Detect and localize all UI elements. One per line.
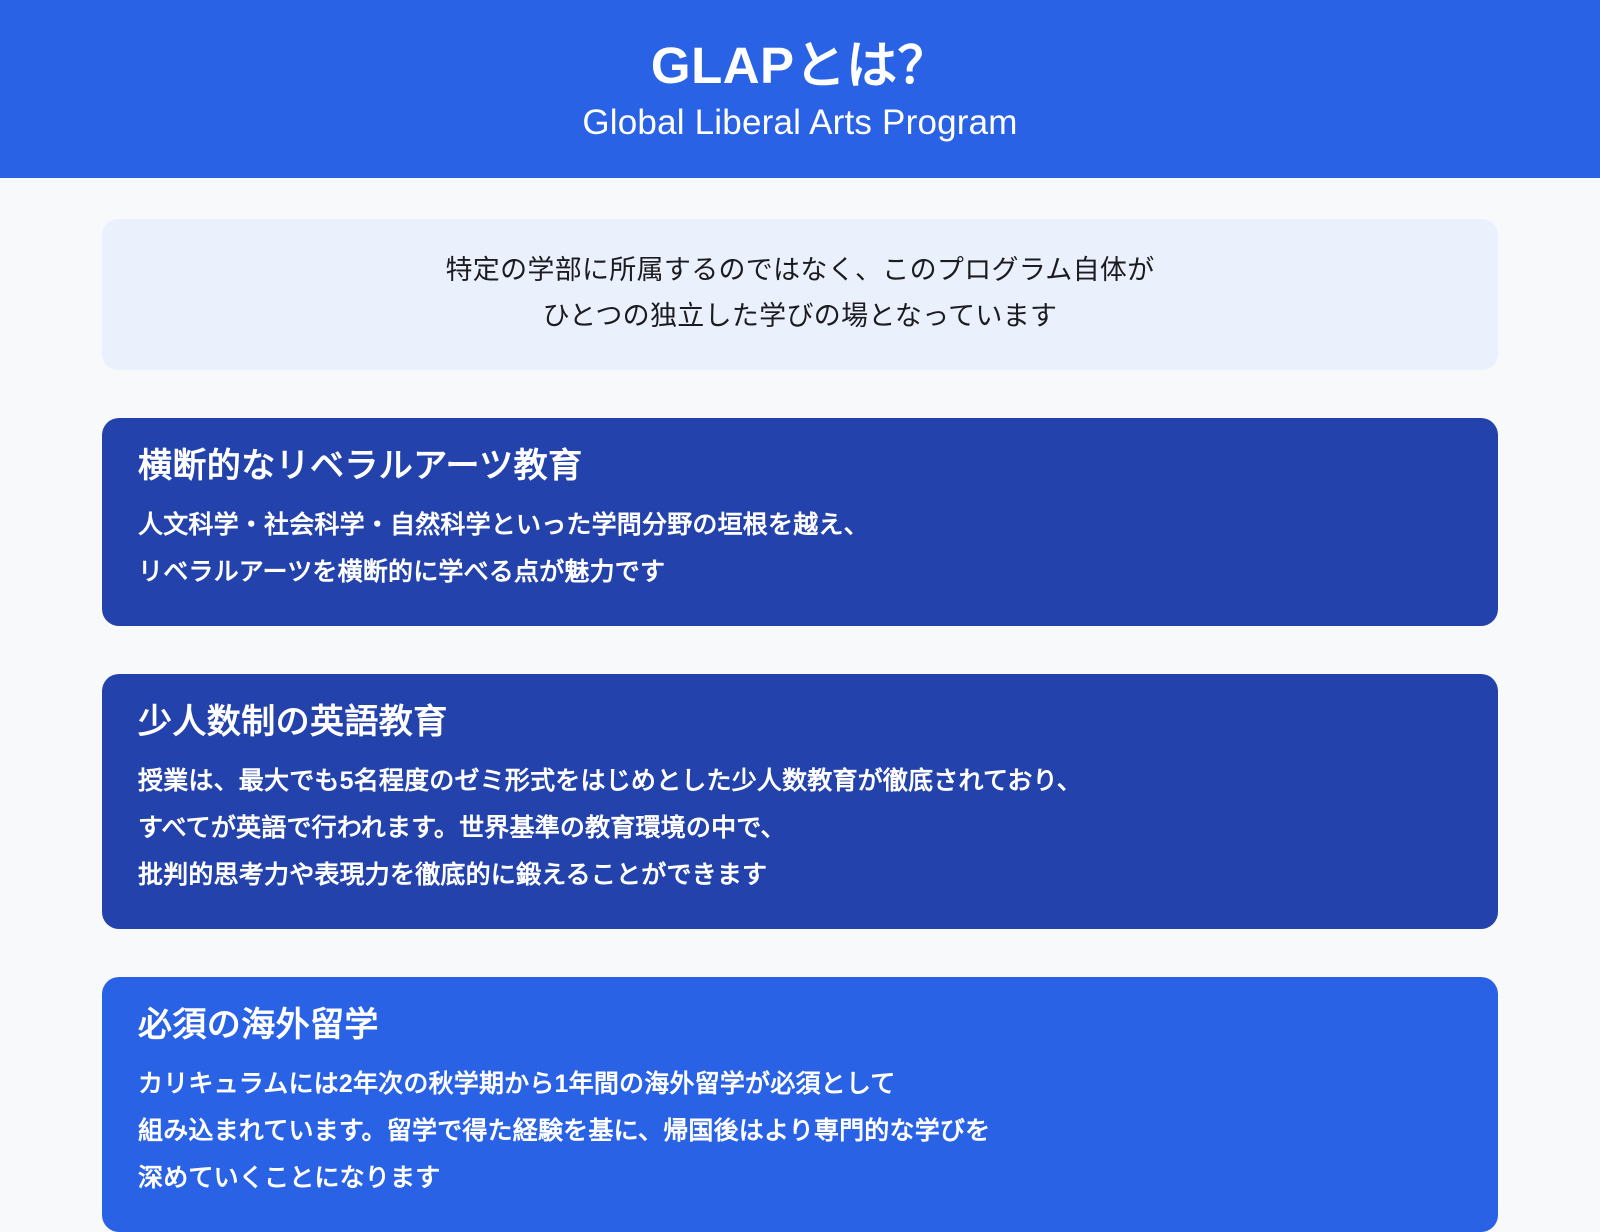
feature-card-line: 組み込まれています。留学で得た経験を基に、帰国後はより専門的な学びを	[138, 1108, 1462, 1155]
feature-card-body: 授業は、最大でも5名程度のゼミ形式をはじめとした少人数教育が徹底されており、 す…	[138, 758, 1462, 899]
feature-card-line: カリキュラムには2年次の秋学期から1年間の海外留学が必須として	[138, 1061, 1462, 1108]
page-header: GLAPとは？ Global Liberal Arts Program	[0, 0, 1600, 178]
feature-card-body: カリキュラムには2年次の秋学期から1年間の海外留学が必須として 組み込まれていま…	[138, 1061, 1462, 1202]
feature-card-line: 批判的思考力や表現力を徹底的に鍛えることができます	[138, 852, 1462, 899]
page-root: GLAPとは？ Global Liberal Arts Program 特定の学…	[0, 0, 1600, 1200]
feature-card-line: リベラルアーツを横断的に学べる点が魅力です	[138, 549, 1462, 596]
feature-card-line: 人文科学・社会科学・自然科学といった学問分野の垣根を越え、	[138, 502, 1462, 549]
page-title: GLAPとは？	[651, 36, 949, 96]
feature-card-title: 少人数制の英語教育	[138, 700, 1462, 744]
feature-card-title: 必須の海外留学	[138, 1003, 1462, 1047]
feature-card-body: 人文科学・社会科学・自然科学といった学問分野の垣根を越え、 リベラルアーツを横断…	[138, 502, 1462, 596]
page-subtitle: Global Liberal Arts Program	[582, 100, 1017, 146]
feature-card-list: 横断的なリベラルアーツ教育 人文科学・社会科学・自然科学といった学問分野の垣根を…	[102, 418, 1498, 1232]
intro-callout: 特定の学部に所属するのではなく、このプログラム自体が ひとつの独立した学びの場と…	[102, 219, 1498, 370]
feature-card: 横断的なリベラルアーツ教育 人文科学・社会科学・自然科学といった学問分野の垣根を…	[102, 418, 1498, 626]
intro-line: ひとつの独立した学びの場となっています	[142, 293, 1458, 339]
intro-line: 特定の学部に所属するのではなく、このプログラム自体が	[142, 247, 1458, 293]
feature-card-line: 授業は、最大でも5名程度のゼミ形式をはじめとした少人数教育が徹底されており、	[138, 758, 1462, 805]
feature-card-title: 横断的なリベラルアーツ教育	[138, 444, 1462, 488]
feature-card-line: 深めていくことになります	[138, 1155, 1462, 1202]
feature-card: 必須の海外留学 カリキュラムには2年次の秋学期から1年間の海外留学が必須として …	[102, 977, 1498, 1232]
feature-card: 少人数制の英語教育 授業は、最大でも5名程度のゼミ形式をはじめとした少人数教育が…	[102, 674, 1498, 929]
main-content: 特定の学部に所属するのではなく、このプログラム自体が ひとつの独立した学びの場と…	[0, 178, 1600, 1232]
feature-card-line: すべてが英語で行われます。世界基準の教育環境の中で、	[138, 805, 1462, 852]
